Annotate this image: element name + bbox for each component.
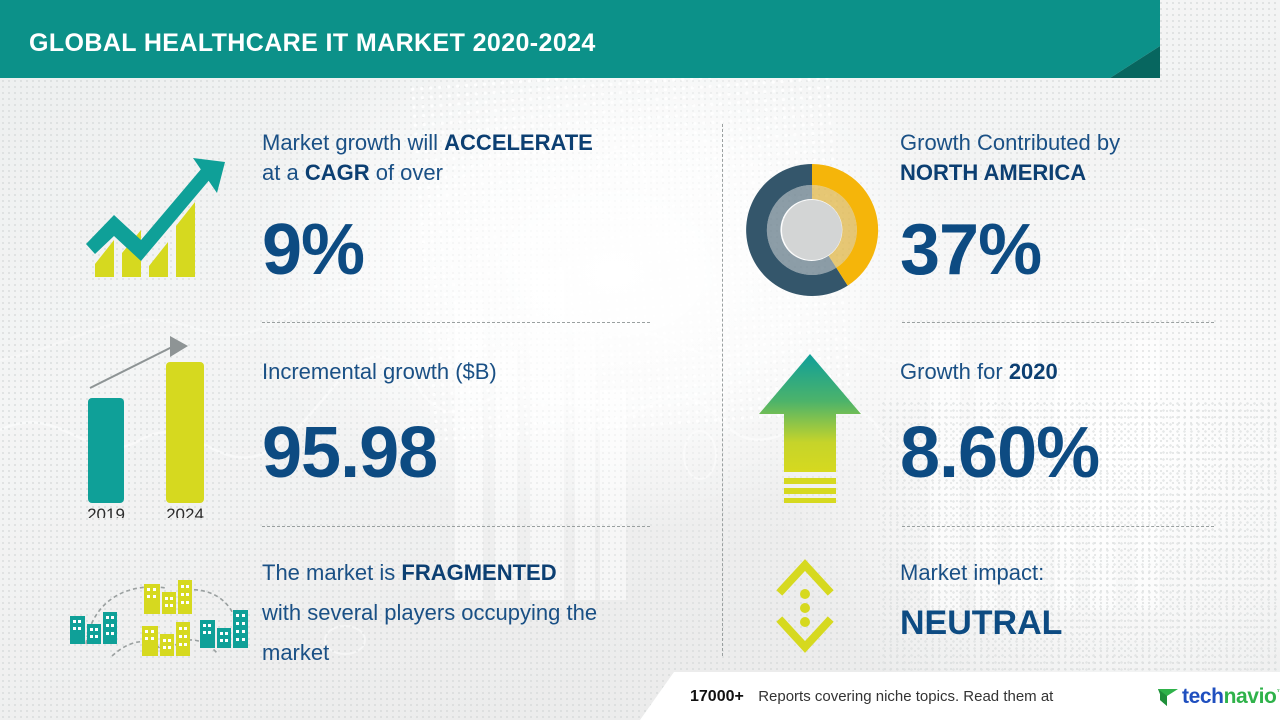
fragmentation-line-2: with several players occupying the [262,598,597,628]
yearly-growth-label-b: 2020 [1009,359,1058,384]
market-impact-label: Market impact: [900,558,1044,588]
logo-word: technavio™ [1182,685,1280,709]
yearly-growth-value: 8.60% [900,415,1099,491]
neutral-chevrons-icon [776,556,836,656]
svg-text:2024: 2024 [166,505,204,518]
footer-tagline: Reports covering niche topics. Read them… [758,688,1053,705]
footer-text: 17000+ Reports covering niche topics. Re… [690,688,1053,706]
cagr-line2-b: CAGR [305,160,370,185]
logo-trademark: ™ [1276,688,1280,697]
donut-chart-icon [742,160,882,300]
cagr-line-2: at a CAGR of over [262,158,593,188]
footer-report-count: 17000+ [690,688,744,705]
right-divider-2 [902,526,1214,527]
cagr-line2-a: at a [262,160,305,185]
growth-arrow-bar-chart-icon [62,140,237,300]
technavio-mark-icon [1156,686,1180,708]
fragmentation-line-3: market [262,638,597,668]
up-arrow-gradient-icon [758,352,868,512]
incremental-growth-label: Incremental growth ($B) [262,357,497,387]
cagr-line1-b: ACCELERATE [444,130,593,155]
yearly-growth-label-a: Growth for [900,359,1009,384]
infographic-canvas: GLOBAL HEALTHCARE IT MARKET 2020-2024 Ma… [0,0,1280,720]
region-text-block: Growth Contributed by NORTH AMERICA [900,128,1120,188]
fragmentation-line1-a: The market is [262,560,401,585]
logo-navio: navio [1224,685,1277,708]
logo-tech: tech [1182,685,1224,708]
cagr-line1-a: Market growth will [262,130,444,155]
fragmentation-line1-b: FRAGMENTED [401,560,556,585]
cagr-line2-c: of over [370,160,443,185]
fragmentation-line-1: The market is FRAGMENTED [262,558,597,588]
technavio-logo[interactable]: technavio™ [1156,685,1280,709]
region-line-1: Growth Contributed by [900,128,1120,158]
cagr-line-1: Market growth will ACCELERATE [262,128,593,158]
yearly-growth-label: Growth for 2020 [900,357,1058,387]
page-title: GLOBAL HEALTHCARE IT MARKET 2020-2024 [29,29,596,58]
region-value: 37% [900,212,1041,288]
market-impact-value: NEUTRAL [900,603,1062,643]
svg-text:2019: 2019 [87,505,125,518]
left-divider-1 [262,322,650,323]
two-bar-growth-icon: 2019 2024 [62,332,237,518]
right-divider-1 [902,322,1214,323]
left-divider-2 [262,526,650,527]
cagr-value: 9% [262,212,364,288]
region-line-2: NORTH AMERICA [900,158,1120,188]
connected-buildings-icon [70,556,250,662]
cagr-text-block: Market growth will ACCELERATE at a CAGR … [262,128,593,188]
fragmentation-text-block: The market is FRAGMENTED with several pl… [262,558,597,668]
incremental-growth-value: 95.98 [262,415,437,491]
column-divider [722,124,723,656]
